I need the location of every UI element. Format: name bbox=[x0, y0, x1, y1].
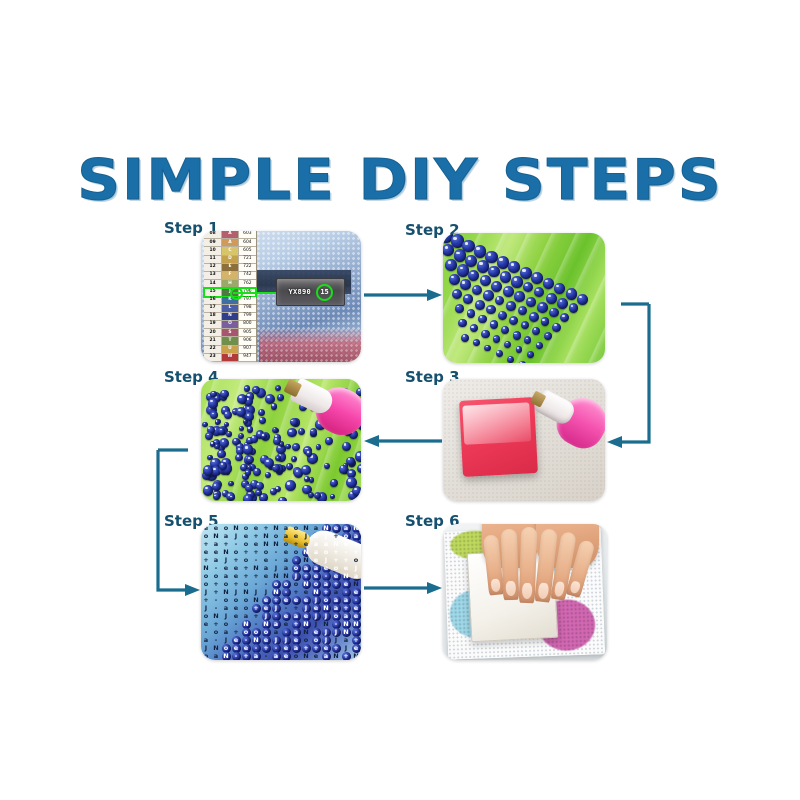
chart-row-symbol: F bbox=[222, 272, 239, 279]
canvas-symbol-cell: o bbox=[241, 604, 251, 612]
canvas-symbol-cell: e bbox=[311, 628, 321, 636]
canvas-symbol-cell: - bbox=[281, 628, 291, 636]
canvas-symbol-cell: e bbox=[241, 644, 251, 652]
canvas-symbol-cell: N bbox=[231, 524, 241, 532]
diamond-drill bbox=[526, 297, 536, 307]
canvas-symbol-cell: - bbox=[231, 540, 241, 548]
canvas-symbol-cell: - bbox=[281, 604, 291, 612]
canvas-symbol-cell: e bbox=[301, 588, 311, 596]
chart-row-code: 947 bbox=[239, 354, 256, 361]
chart-row: 18N799 bbox=[204, 313, 256, 321]
diamond-drill bbox=[475, 300, 485, 310]
diamond-drill bbox=[213, 493, 220, 500]
canvas-symbol-cell: N bbox=[301, 628, 311, 636]
canvas-symbol-cell: - bbox=[211, 564, 221, 572]
canvas-symbol-cell: N bbox=[251, 564, 261, 572]
glue-tray bbox=[459, 397, 537, 476]
drill-bag-label: YX890 15 bbox=[276, 278, 345, 306]
canvas-symbol-cell: e bbox=[281, 644, 291, 652]
arrow-step1-to-step2 bbox=[364, 288, 442, 302]
diamond-drill bbox=[256, 482, 264, 490]
diamond-drill bbox=[215, 419, 221, 425]
arrow-step5-to-step6 bbox=[364, 581, 442, 595]
diamond-drill bbox=[271, 403, 278, 410]
chart-row: 14H762 bbox=[204, 280, 256, 288]
canvas-symbol-cell: N bbox=[281, 572, 291, 580]
diamond-drill bbox=[229, 495, 235, 501]
canvas-symbol-cell: J bbox=[201, 588, 211, 596]
diamond-drill bbox=[488, 266, 499, 277]
canvas-symbol-cell: e bbox=[231, 636, 241, 644]
diamond-drill bbox=[244, 385, 251, 392]
diamond-drill bbox=[330, 479, 338, 487]
chart-row-symbol: T bbox=[222, 337, 239, 344]
diamond-drill bbox=[486, 305, 495, 314]
canvas-symbol-cell: J bbox=[271, 604, 281, 612]
chart-row-code: 721 bbox=[239, 256, 256, 263]
canvas-symbol-cell: - bbox=[281, 588, 291, 596]
diamond-drill bbox=[203, 485, 213, 495]
chart-row-number: 18 bbox=[204, 313, 222, 320]
diamond-drill bbox=[220, 390, 229, 399]
canvas-symbol-cell: a bbox=[291, 628, 301, 636]
canvas-symbol-cell: N bbox=[351, 524, 361, 532]
canvas-symbol-cell: + bbox=[241, 564, 251, 572]
bag-number-badge: 15 bbox=[316, 284, 333, 301]
canvas-symbol-cell: e bbox=[221, 564, 231, 572]
canvas-pink-band bbox=[259, 328, 361, 362]
canvas-symbol-cell: e bbox=[291, 636, 301, 644]
diamond-drill bbox=[519, 361, 526, 363]
diamond-drill bbox=[285, 480, 296, 491]
canvas-symbol-cell: o bbox=[251, 628, 261, 636]
canvas-symbol-cell: + bbox=[291, 588, 301, 596]
diamond-drill bbox=[292, 443, 300, 451]
diamond-drill bbox=[325, 437, 333, 445]
chart-row: 16K797 bbox=[204, 297, 256, 305]
canvas-symbol-cell: o bbox=[221, 596, 231, 604]
canvas-symbol-cell: o bbox=[291, 580, 301, 588]
canvas-symbol-cell: N bbox=[321, 620, 331, 628]
chart-row-symbol: S bbox=[222, 329, 239, 336]
canvas-symbol-cell: o bbox=[261, 628, 271, 636]
canvas-symbol-cell: e bbox=[231, 612, 241, 620]
diamond-drill bbox=[500, 271, 512, 283]
canvas-symbol-cell: + bbox=[211, 588, 221, 596]
diamond-drill bbox=[251, 435, 259, 443]
canvas-symbol-cell: + bbox=[311, 644, 321, 652]
diamond-drill bbox=[258, 409, 265, 416]
canvas-symbol-cell: J bbox=[231, 532, 241, 540]
canvas-symbol-cell: a bbox=[271, 620, 281, 628]
canvas-symbol-cell: J bbox=[261, 612, 271, 620]
diamond-drill bbox=[245, 484, 253, 492]
chart-row-code: 905 bbox=[239, 329, 256, 336]
diamond-drill bbox=[247, 426, 253, 432]
chart-row-code: 742 bbox=[239, 272, 256, 279]
canvas-symbol-cell: - bbox=[251, 620, 261, 628]
canvas-symbol-cell: N bbox=[341, 620, 351, 628]
canvas-symbol-cell: e bbox=[251, 524, 261, 532]
canvas-symbol-cell: e bbox=[321, 644, 331, 652]
finger bbox=[501, 529, 519, 600]
canvas-symbol-cell: J bbox=[321, 612, 331, 620]
canvas-symbol-cell: e bbox=[341, 580, 351, 588]
chart-row: 08A603 bbox=[204, 231, 256, 239]
diamond-drill bbox=[202, 422, 207, 427]
canvas-symbol-cell: a bbox=[271, 652, 281, 660]
canvas-symbol-cell: J bbox=[281, 636, 291, 644]
canvas-symbol-cell: - bbox=[251, 556, 261, 564]
canvas-symbol-cell: N bbox=[221, 652, 231, 660]
canvas-symbol-cell: - bbox=[331, 620, 341, 628]
canvas-symbol-cell: o bbox=[241, 628, 251, 636]
diamond-drill bbox=[495, 296, 505, 306]
diamond-drill bbox=[214, 444, 219, 449]
canvas-symbol-cell: o bbox=[321, 596, 331, 604]
diamond-drill bbox=[569, 303, 579, 313]
canvas-symbol-cell: - bbox=[251, 644, 261, 652]
canvas-symbol-cell: - bbox=[211, 596, 221, 604]
canvas-symbol-cell: + bbox=[301, 644, 311, 652]
canvas-symbol-cell: - bbox=[271, 612, 281, 620]
diamond-drill bbox=[477, 260, 489, 272]
diamond-drill bbox=[501, 326, 509, 334]
chart-row: 12E722 bbox=[204, 264, 256, 272]
canvas-symbol-cell: e bbox=[281, 652, 291, 660]
canvas-symbol-cell: - bbox=[341, 588, 351, 596]
canvas-symbol-cell: J bbox=[291, 572, 301, 580]
canvas-symbol-cell: N bbox=[211, 532, 221, 540]
diamond-drill bbox=[491, 281, 502, 292]
canvas-symbol-cell: a bbox=[211, 652, 221, 660]
diamond-drill bbox=[536, 342, 543, 349]
diamond-drill bbox=[355, 451, 361, 462]
canvas-symbol-cell: + bbox=[341, 652, 351, 660]
diamond-drill bbox=[534, 287, 544, 297]
canvas-symbol-cell: e bbox=[281, 596, 291, 604]
chart-row: 19O800 bbox=[204, 321, 256, 329]
canvas-symbol-cell: o bbox=[281, 580, 291, 588]
step-4-image bbox=[201, 379, 361, 501]
canvas-symbol-cell: a bbox=[211, 540, 221, 548]
diamond-drill bbox=[493, 335, 501, 343]
diamond-drill bbox=[460, 279, 471, 290]
chart-row-code: 603 bbox=[239, 231, 256, 238]
diamond-drill bbox=[286, 463, 292, 469]
diamond-drill bbox=[235, 454, 243, 462]
canvas-symbol-cell: N bbox=[211, 612, 221, 620]
chart-row-code: 799 bbox=[239, 313, 256, 320]
canvas-symbol-cell: + bbox=[251, 604, 261, 612]
canvas-symbol-cell: + bbox=[231, 556, 241, 564]
chart-row-number: 16 bbox=[204, 297, 222, 304]
diamond-drill bbox=[208, 398, 218, 408]
canvas-symbol-cell: J bbox=[221, 556, 231, 564]
diamond-drill bbox=[224, 422, 229, 427]
diamond-drill bbox=[566, 288, 577, 299]
diamond-drill bbox=[504, 341, 511, 348]
canvas-symbol-cell: + bbox=[241, 548, 251, 556]
canvas-symbol-cell: e bbox=[261, 572, 271, 580]
canvas-symbol-cell: N bbox=[341, 628, 351, 636]
canvas-symbol-cell: J bbox=[321, 628, 331, 636]
canvas-symbol-cell: e bbox=[311, 604, 321, 612]
diamond-drill bbox=[461, 334, 469, 342]
canvas-symbol-cell: e bbox=[301, 596, 311, 604]
canvas-symbol-cell: e bbox=[231, 644, 241, 652]
diamond-drill bbox=[264, 458, 274, 468]
canvas-symbol-cell: J bbox=[311, 612, 321, 620]
diamond-drill bbox=[324, 463, 330, 469]
canvas-symbol-cell: N bbox=[241, 620, 251, 628]
diamond-drill bbox=[546, 293, 557, 304]
diamond-drill bbox=[554, 283, 565, 294]
chart-row-symbol: O bbox=[222, 321, 239, 328]
canvas-symbol-cell: e bbox=[351, 588, 361, 596]
step-3-image bbox=[443, 379, 605, 501]
canvas-symbol-cell: J bbox=[301, 604, 311, 612]
fingernail bbox=[522, 582, 533, 599]
arrow-step4-to-step5 bbox=[152, 444, 202, 596]
canvas-symbol-cell: e bbox=[261, 556, 271, 564]
chart-row-number: 23 bbox=[204, 354, 222, 361]
canvas-symbol-cell: e bbox=[241, 532, 251, 540]
diamond-drill bbox=[287, 428, 296, 437]
diamond-drill bbox=[544, 332, 552, 340]
chart-row-number: 15 bbox=[204, 288, 222, 295]
fingernail bbox=[554, 581, 566, 597]
diamond-drill bbox=[509, 316, 518, 325]
step-6-image bbox=[443, 524, 607, 660]
canvas-symbol-cell: - bbox=[251, 580, 261, 588]
canvas-symbol-cell: a bbox=[291, 612, 301, 620]
chart-row-symbol: H bbox=[222, 280, 239, 287]
diamond-drill bbox=[443, 244, 454, 256]
canvas-symbol-cell: N bbox=[301, 652, 311, 660]
diamond-drill bbox=[445, 259, 457, 271]
canvas-symbol-cell: a bbox=[221, 532, 231, 540]
canvas-symbol-cell: J bbox=[311, 596, 321, 604]
diamond-drill bbox=[290, 418, 298, 426]
fingernail bbox=[568, 580, 581, 595]
canvas-symbol-cell: N bbox=[311, 588, 321, 596]
diamond-drill bbox=[472, 285, 482, 295]
canvas-symbol-cell: a bbox=[341, 524, 351, 532]
chart-row-number: 21 bbox=[204, 337, 222, 344]
canvas-symbol-cell: + bbox=[261, 644, 271, 652]
canvas-symbol-cell: N bbox=[351, 652, 361, 660]
canvas-symbol-cell: a bbox=[331, 588, 341, 596]
arrow-step2-to-step3 bbox=[605, 298, 653, 448]
canvas-symbol-cell: J bbox=[261, 588, 271, 596]
diamond-drill bbox=[210, 441, 215, 446]
canvas-symbol-cell: o bbox=[231, 596, 241, 604]
diamond-drill bbox=[507, 356, 514, 363]
chart-row-code: 800 bbox=[239, 321, 256, 328]
diamond-drill bbox=[270, 488, 277, 495]
chart-row-code: 722 bbox=[239, 264, 256, 271]
canvas-symbol-cell: e bbox=[281, 620, 291, 628]
canvas-symbol-cell: J bbox=[201, 604, 211, 612]
canvas-symbol-cell: N bbox=[271, 524, 281, 532]
canvas-symbol-cell: - bbox=[231, 652, 241, 660]
canvas-symbol-cell: N bbox=[201, 564, 211, 572]
canvas-symbol-cell: + bbox=[251, 572, 261, 580]
chart-row-number: 20 bbox=[204, 329, 222, 336]
page-title: SIMPLE DIY STEPS bbox=[0, 148, 800, 213]
canvas-symbol-cell: a bbox=[331, 596, 341, 604]
canvas-symbol-cell: o bbox=[201, 572, 211, 580]
diamond-drill bbox=[496, 350, 503, 357]
canvas-symbol-cell: e bbox=[261, 604, 271, 612]
diamond-drill bbox=[577, 294, 588, 305]
canvas-symbol-cell: N bbox=[221, 548, 231, 556]
canvas-symbol-cell: e bbox=[311, 652, 321, 660]
canvas-symbol-cell: J bbox=[201, 644, 211, 652]
canvas-symbol-cell: - bbox=[271, 644, 281, 652]
diamond-drill bbox=[484, 345, 491, 352]
chart-row: 11D721 bbox=[204, 256, 256, 264]
canvas-symbol-cell: o bbox=[271, 580, 281, 588]
canvas-symbol-cell: a bbox=[281, 564, 291, 572]
chart-row-code: 605 bbox=[239, 247, 256, 254]
diamond-drill bbox=[470, 324, 478, 332]
canvas-symbol-cell: o bbox=[221, 644, 231, 652]
diamond-drill bbox=[252, 386, 259, 393]
diamond-drill bbox=[490, 320, 499, 329]
canvas-symbol-cell: e bbox=[201, 620, 211, 628]
canvas-symbol-cell: a bbox=[341, 636, 351, 644]
diamond-drill bbox=[316, 444, 322, 450]
chart-row: 22U907 bbox=[204, 346, 256, 354]
canvas-symbol-cell: J bbox=[271, 564, 281, 572]
canvas-symbol-cell: a bbox=[211, 556, 221, 564]
canvas-symbol-cell: + bbox=[231, 628, 241, 636]
diamond-drill bbox=[212, 482, 221, 491]
diamond-drill bbox=[524, 336, 531, 343]
diamond-drill bbox=[357, 464, 361, 473]
canvas-symbol-cell: a bbox=[221, 572, 231, 580]
canvas-symbol-cell: e bbox=[351, 612, 361, 620]
diamond-drill bbox=[246, 456, 253, 463]
canvas-symbol-cell: a bbox=[221, 628, 231, 636]
canvas-symbol-cell: + bbox=[201, 596, 211, 604]
diamond-drill bbox=[478, 315, 487, 324]
fingernail bbox=[490, 578, 501, 592]
diamond-drill bbox=[560, 313, 569, 322]
canvas-symbol-cell: N bbox=[351, 620, 361, 628]
canvas-symbol-cell: - bbox=[271, 556, 281, 564]
canvas-symbol-cell: o bbox=[221, 524, 231, 532]
diamond-drill bbox=[298, 428, 305, 435]
canvas-symbol-cell: N bbox=[221, 588, 231, 596]
diamond-drill bbox=[219, 438, 229, 448]
canvas-symbol-cell: J bbox=[251, 588, 261, 596]
canvas-symbol-cell: e bbox=[231, 572, 241, 580]
fingernail bbox=[505, 581, 516, 597]
canvas-symbol-cell: a bbox=[261, 564, 271, 572]
canvas-symbol-cell: - bbox=[241, 636, 251, 644]
canvas-symbol-cell: e bbox=[311, 572, 321, 580]
chart-row-number: 11 bbox=[204, 256, 222, 263]
canvas-symbol-cell: N bbox=[271, 572, 281, 580]
diamond-drill bbox=[463, 294, 473, 304]
diamond-drill bbox=[342, 442, 352, 452]
canvas-symbol-cell: N bbox=[321, 604, 331, 612]
canvas-symbol-cell: o bbox=[241, 580, 251, 588]
diamond-drill bbox=[265, 472, 271, 478]
canvas-symbol-cell: + bbox=[241, 572, 251, 580]
canvas-symbol-cell: N bbox=[301, 620, 311, 628]
canvas-symbol-cell: a bbox=[271, 628, 281, 636]
chart-row-number: 09 bbox=[204, 239, 222, 246]
drill-cluster bbox=[443, 233, 605, 363]
chart-row-number: 10 bbox=[204, 247, 222, 254]
canvas-symbol-cell: a bbox=[291, 644, 301, 652]
diamond-drill bbox=[549, 308, 559, 318]
diamond-drill bbox=[508, 261, 520, 273]
canvas-symbol-cell: J bbox=[331, 628, 341, 636]
canvas-symbol-cell: J bbox=[341, 644, 351, 652]
canvas-symbol-cell: N bbox=[261, 540, 271, 548]
chart-row-symbol: E bbox=[222, 264, 239, 271]
canvas-symbol-cell: e bbox=[261, 596, 271, 604]
canvas-symbol-cell: o bbox=[311, 580, 321, 588]
diamond-drill bbox=[531, 272, 543, 284]
chart-row-number: 12 bbox=[204, 264, 222, 271]
canvas-symbol-cell: - bbox=[201, 628, 211, 636]
chart-row-number: 19 bbox=[204, 321, 222, 328]
diamond-drill bbox=[529, 312, 539, 322]
arrow-step3-to-step4 bbox=[364, 434, 442, 448]
chart-row-number: 14 bbox=[204, 280, 222, 287]
canvas-symbol-cell: N bbox=[301, 580, 311, 588]
diamond-drill bbox=[557, 298, 568, 309]
diamond-drill bbox=[238, 433, 244, 439]
diamond-drill bbox=[273, 437, 281, 445]
diamond-drill bbox=[245, 469, 251, 475]
glue-tray-lid bbox=[462, 401, 531, 444]
diamond-drill bbox=[455, 304, 464, 313]
canvas-symbol-cell: - bbox=[351, 596, 361, 604]
diamond-drill bbox=[513, 331, 522, 340]
canvas-symbol-cell: N bbox=[261, 620, 271, 628]
canvas-symbol-cell: e bbox=[201, 524, 211, 532]
canvas-symbol-cell: o bbox=[241, 596, 251, 604]
diamond-drill bbox=[239, 426, 244, 431]
canvas-symbol-cell: + bbox=[331, 644, 341, 652]
canvas-symbol-cell: + bbox=[331, 580, 341, 588]
canvas-symbol-cell: J bbox=[231, 588, 241, 596]
canvas-symbol-cell: e bbox=[351, 604, 361, 612]
chart-row-symbol: A bbox=[222, 231, 239, 238]
canvas-symbol-cell: e bbox=[281, 612, 291, 620]
canvas-symbol-cell: o bbox=[311, 636, 321, 644]
chart-row: 10C605 bbox=[204, 247, 256, 255]
canvas-symbol-cell: + bbox=[211, 620, 221, 628]
diamond-drill bbox=[514, 291, 524, 301]
canvas-symbol-cell: + bbox=[231, 580, 241, 588]
canvas-symbol-cell: a bbox=[331, 604, 341, 612]
step-2-image bbox=[443, 233, 605, 363]
diamond-drill bbox=[259, 417, 266, 424]
chart-row-code: 762 bbox=[239, 280, 256, 287]
canvas-symbol-cell: + bbox=[301, 572, 311, 580]
diamond-drill bbox=[527, 351, 533, 357]
chart-row: 09A604 bbox=[204, 239, 256, 247]
canvas-symbol-cell: N bbox=[251, 596, 261, 604]
